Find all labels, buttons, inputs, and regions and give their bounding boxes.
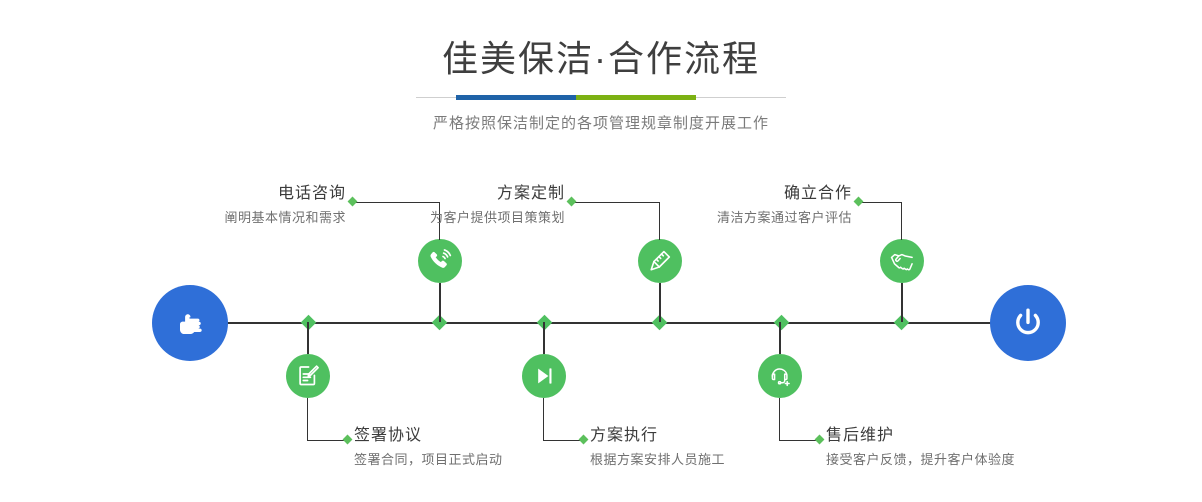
step-label-5: 确立合作 清洁方案通过客户评估 [630, 184, 852, 227]
step-desc-3: 为客户提供项目策策划 [340, 205, 565, 228]
pointing-hand-icon [170, 303, 210, 343]
step-node-2 [286, 354, 330, 398]
document-pen-icon [295, 363, 321, 389]
step-node-6 [758, 354, 802, 398]
step-desc-6: 接受客户反馈，提升客户体验度 [826, 447, 1086, 470]
step-title-1: 电话咨询 [124, 184, 346, 205]
step-node-5 [880, 239, 924, 283]
step-node-4 [522, 354, 566, 398]
play-execute-icon [531, 363, 557, 389]
step-node-1 [418, 239, 462, 283]
step-connector-2 [307, 398, 348, 441]
timeline-start-node [152, 285, 228, 361]
step-connector-5 [858, 202, 902, 240]
step-stem-1 [439, 283, 441, 322]
step-label-6: 售后维护 接受客户反馈，提升客户体验度 [826, 426, 1086, 469]
step-desc-4: 根据方案安排人员施工 [590, 447, 830, 470]
step-stem-3 [659, 283, 661, 322]
step-title-3: 方案定制 [340, 184, 565, 205]
step-node-3 [638, 239, 682, 283]
handshake-icon [889, 248, 915, 274]
step-title-6: 售后维护 [826, 426, 1086, 447]
step-stem-2 [307, 322, 309, 354]
step-connector-6 [779, 398, 820, 441]
step-desc-2: 签署合同，项目正式启动 [354, 447, 594, 470]
step-desc-1: 阐明基本情况和需求 [124, 205, 346, 228]
cooperation-process-infographic: 佳美保洁·合作流程 严格按照保洁制定的各项管理规章制度开展工作 [0, 0, 1202, 502]
phone-call-icon [427, 248, 453, 274]
step-desc-5: 清洁方案通过客户评估 [630, 205, 852, 228]
step-title-5: 确立合作 [630, 184, 852, 205]
process-timeline: 电话咨询 阐明基本情况和需求 签署协议 签署 [0, 0, 1202, 502]
step-label-1: 电话咨询 阐明基本情况和需求 [124, 184, 346, 227]
pencil-ruler-icon [647, 248, 673, 274]
timeline-end-node [990, 285, 1066, 361]
power-icon [1007, 302, 1049, 344]
step-label-3: 方案定制 为客户提供项目策策划 [340, 184, 565, 227]
step-connector-4 [543, 398, 584, 441]
step-stem-5 [901, 283, 903, 322]
step-stem-4 [543, 322, 545, 354]
customer-service-add-icon [767, 363, 793, 389]
step-tick-2 [343, 435, 353, 445]
axis-diamond-5 [774, 315, 790, 331]
step-stem-6 [779, 322, 781, 354]
